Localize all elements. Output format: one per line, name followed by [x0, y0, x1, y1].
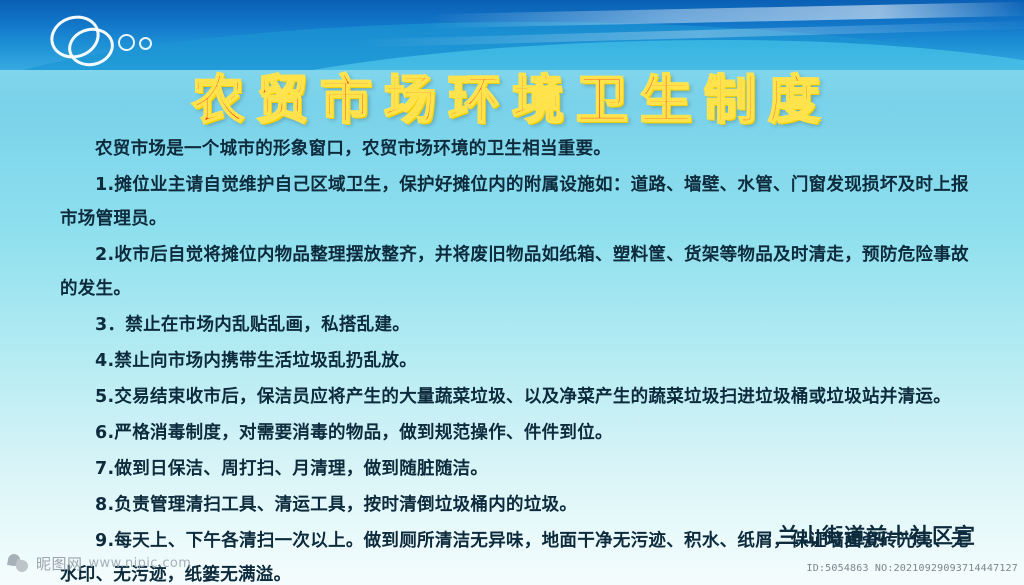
poster-canvas: 农贸市场环境卫生制度 农贸市场是一个城市的形象窗口，农贸市场环境的卫生相当重要。… [0, 0, 1024, 585]
paragraph-rule-5: 5.交易结束收市后，保洁员应将产生的大量蔬菜垃圾、以及净菜产生的蔬菜垃圾扫进垃圾… [60, 380, 976, 414]
nipic-logo-icon [8, 552, 30, 574]
paragraph-rule-2: 2.收市后自觉将摊位内物品整理摆放整齐，并将废旧物品如纸箱、塑料筐、货架等物品及… [60, 238, 976, 306]
logo-dot-large [118, 34, 135, 51]
paragraph-rule-8: 8.负责管理清扫工具、清运工具，按时清倒垃圾桶内的垃圾。 [60, 488, 976, 522]
paragraph-rule-3: 3．禁止在市场内乱贴乱画，私搭乱建。 [60, 308, 976, 342]
paragraph-rule-7: 7.做到日保洁、周打扫、月清理，做到随脏随洁。 [60, 452, 976, 486]
rings-logo-icon [44, 10, 164, 62]
regulation-body: 农贸市场是一个城市的形象窗口，农贸市场环境的卫生相当重要。 1.摊位业主请自觉维… [60, 132, 976, 585]
paragraph-rule-4: 4.禁止向市场内携带生活垃圾乱扔乱放。 [60, 344, 976, 378]
signature-line: 兰山街道前十社区宣 [778, 520, 976, 550]
watermark-id: ID:5054863 NO:20210929093714447127 [807, 563, 1019, 574]
watermark-brand: 昵图网 [36, 553, 83, 574]
paragraph-intro: 农贸市场是一个城市的形象窗口，农贸市场环境的卫生相当重要。 [60, 132, 976, 166]
paragraph-rule-1: 1.摊位业主请自觉维护自己区域卫生，保护好摊位内的附属设施如：道路、墙壁、水管、… [60, 168, 976, 236]
paragraph-rule-6: 6.严格消毒制度，对需要消毒的物品，做到规范操作、件件到位。 [60, 416, 976, 450]
title-area: 农贸市场环境卫生制度 [0, 58, 1024, 133]
nipic-logo-lobe-2 [15, 559, 29, 573]
page-title: 农贸市场环境卫生制度 [192, 58, 832, 133]
watermark: 昵图网 www.nipic.com [8, 552, 191, 574]
logo-dot-small [139, 37, 152, 50]
watermark-url: www.nipic.com [89, 556, 192, 571]
